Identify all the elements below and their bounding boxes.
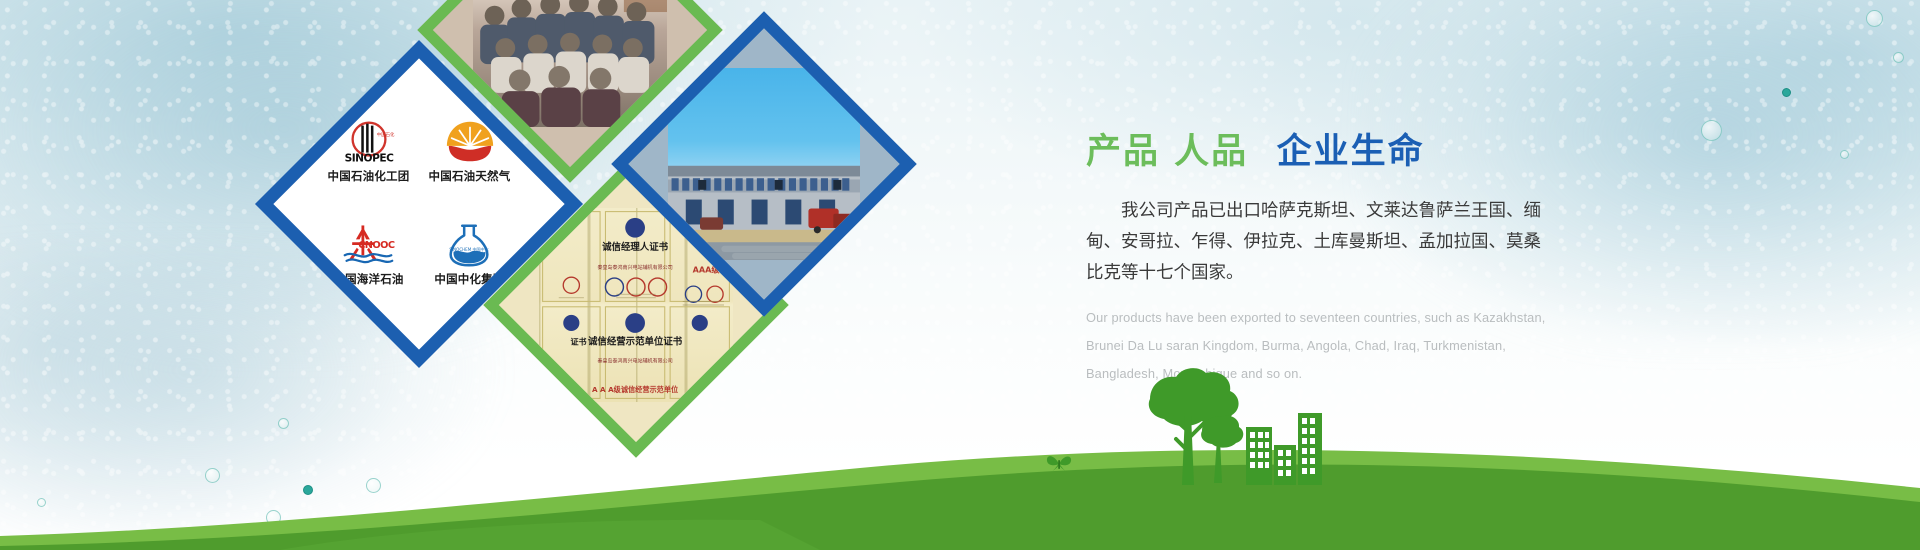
partner-logo-sinopec[interactable]: 中国石化 SINOPEC 中国石油化工团 xyxy=(328,121,410,184)
factory-photo-inner xyxy=(668,68,860,260)
petrochina-logo-icon xyxy=(443,121,497,165)
svg-text:秦皇岛泰鸿南兴电站辅机有限公司: 秦皇岛泰鸿南兴电站辅机有限公司 xyxy=(597,357,672,364)
green-butterfly-icon xyxy=(1044,452,1074,474)
svg-text:诚信经营示范单位证书: 诚信经营示范单位证书 xyxy=(588,336,683,348)
green-hill-shape xyxy=(0,350,1920,550)
bubble-decoration xyxy=(1866,10,1883,27)
banner-headline: 产品 人品 企业生命 xyxy=(1086,132,1626,172)
partner-logo-petrochina[interactable]: 中国石油天然气 xyxy=(429,121,511,184)
factory-photo-detail xyxy=(668,68,860,260)
company-intro-banner: 诚信经理人证书 诚信经营示范单位证书 证书 秦皇岛泰鸿南兴电站辅机有限公司 秦皇… xyxy=(0,0,1920,550)
svg-text:证书: 证书 xyxy=(570,337,586,347)
bubble-decoration xyxy=(1893,52,1904,63)
green-city-buildings-icon xyxy=(1246,413,1322,485)
svg-text:中国石化: 中国石化 xyxy=(376,131,394,138)
banner-copy-block: 产品 人品 企业生命 我公司产品已出口哈萨克斯坦、文莱达鲁萨兰王国、缅甸、安哥拉… xyxy=(1086,132,1626,389)
partner-logo-cnooc[interactable]: CNOOC 中国海洋石油 xyxy=(333,224,403,287)
headline-green-part: 产品 人品 xyxy=(1086,132,1248,172)
partner-logos-grid: 中国石化 SINOPEC 中国石油化工团 xyxy=(316,97,522,312)
partner-logos-inner: 中国石化 SINOPEC 中国石油化工团 xyxy=(316,101,522,307)
team-photo-figures xyxy=(473,0,667,127)
green-scenery-illustration xyxy=(1090,355,1420,495)
headline-blue-part: 企业生命 xyxy=(1277,132,1425,172)
partner-logo-caption: 中国中化集团 xyxy=(434,271,504,287)
svg-text:秦皇岛泰鸿南兴电站辅机有限公司: 秦皇岛泰鸿南兴电站辅机有限公司 xyxy=(597,264,672,271)
bubble-decoration xyxy=(1840,150,1849,159)
sinopec-logo-icon: 中国石化 SINOPEC xyxy=(342,121,396,165)
banner-paragraph-chinese: 我公司产品已出口哈萨克斯坦、文莱达鲁萨兰王国、缅甸、安哥拉、乍得、伊拉克、土库曼… xyxy=(1086,196,1541,288)
svg-text:CNOOC: CNOOC xyxy=(359,240,396,251)
svg-text:A A A级诚信经营示范单位: A A A级诚信经营示范单位 xyxy=(592,385,678,394)
green-small-tree-icon xyxy=(1201,416,1243,483)
bubble-decoration xyxy=(1782,88,1791,97)
partner-logo-caption: 中国海洋石油 xyxy=(333,271,403,287)
cnooc-logo-icon: CNOOC xyxy=(341,224,395,268)
partner-logo-sinochem[interactable]: SINOCHEM 中国中化 中国中化集团 xyxy=(434,224,504,287)
sinochem-logo-icon: SINOCHEM 中国中化 xyxy=(442,224,496,268)
bubble-decoration xyxy=(1701,120,1722,141)
team-photo-inner xyxy=(473,0,667,127)
svg-text:SINOPEC: SINOPEC xyxy=(344,152,394,164)
svg-text:诚信经理人证书: 诚信经理人证书 xyxy=(602,241,669,253)
svg-text:SINOCHEM 中国中化: SINOCHEM 中国中化 xyxy=(450,246,489,252)
partner-logo-caption: 中国石油天然气 xyxy=(429,168,511,184)
partner-logo-caption: 中国石油化工团 xyxy=(328,168,410,184)
